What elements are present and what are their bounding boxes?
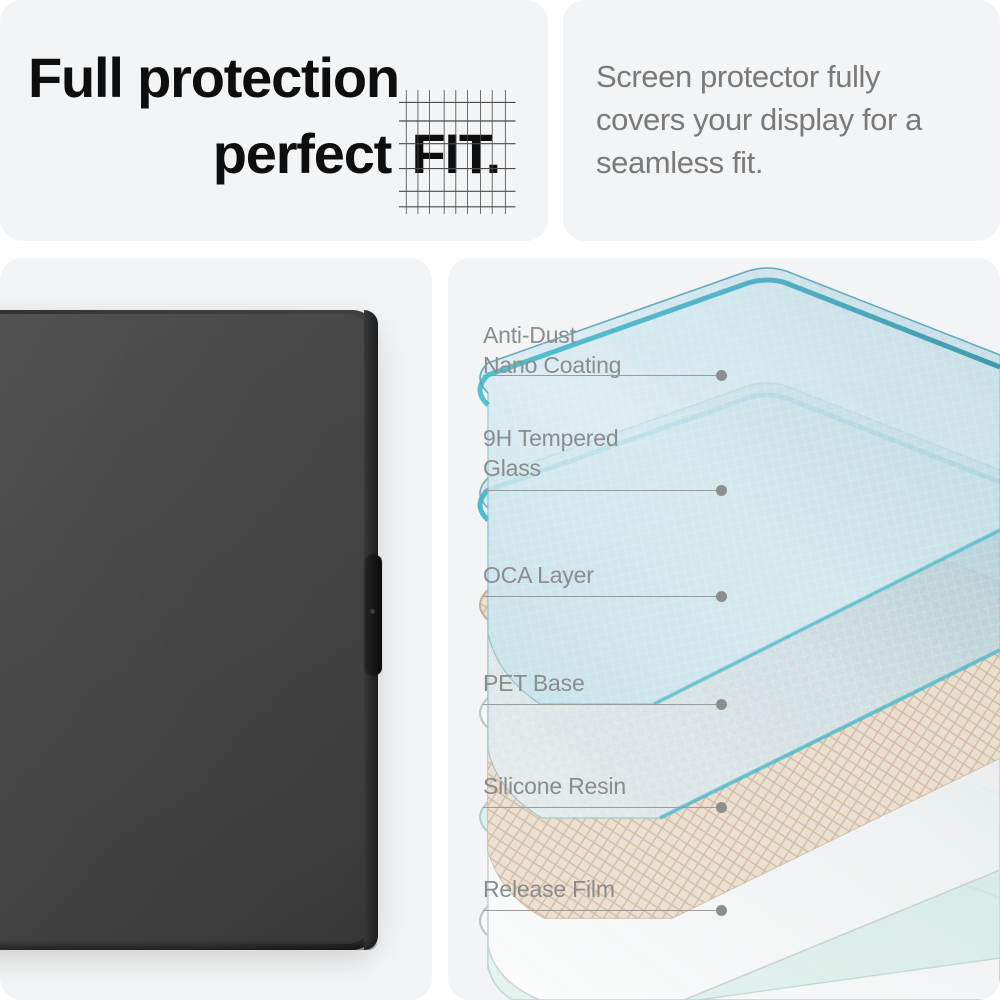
layer-label-silicone-resin: Silicone Resin — [483, 771, 626, 801]
leader-dot-9h-tempered-glass — [716, 485, 727, 496]
leader-dot-release-film — [716, 905, 727, 916]
leader-dot-pet-base — [716, 699, 727, 710]
screen-reflection — [0, 314, 370, 944]
camera-lens-icon — [370, 609, 375, 614]
caption-text: Screen protector fully covers your displ… — [596, 55, 976, 184]
layer-label-anti-dust-nano-coating: Anti-Dust Nano Coating — [483, 320, 621, 380]
headline-line-2: perfect FIT. — [28, 116, 528, 192]
leader-dot-oca-layer — [716, 591, 727, 602]
leader-line-pet-base — [483, 704, 723, 705]
leader-line-silicone-resin — [483, 807, 723, 808]
headline-line-2-prefix: perfect — [213, 122, 406, 185]
fit-accent: FIT. — [405, 116, 506, 192]
leader-dot-silicone-resin — [716, 802, 727, 813]
leader-dot-anti-dust-nano-coating — [716, 370, 727, 381]
infographic-page: Full protection perfect FIT. — [0, 0, 1000, 1000]
layer-label-release-film: Release Film — [483, 874, 615, 904]
fit-label: FIT. — [411, 122, 500, 185]
caption-panel: Screen protector fully covers your displ… — [563, 0, 1000, 241]
leader-line-anti-dust-nano-coating — [483, 375, 723, 376]
layer-label-9h-tempered-glass: 9H Tempered Glass — [483, 423, 618, 483]
layer-label-pet-base: PET Base — [483, 668, 585, 698]
tablet-screen — [0, 314, 370, 944]
tablet-device — [0, 310, 378, 950]
page-title: Full protection perfect FIT. — [28, 40, 528, 192]
leader-line-oca-layer — [483, 596, 723, 597]
layer-label-oca-layer: OCA Layer — [483, 560, 594, 590]
tablet-bottom-shadow — [0, 940, 378, 950]
device-panel — [0, 258, 432, 1000]
leader-line-9h-tempered-glass — [483, 490, 723, 491]
leader-line-release-film — [483, 910, 723, 911]
headline-panel: Full protection perfect FIT. — [0, 0, 548, 241]
layer-stack-panel: Anti-Dust Nano Coating 9H Tempered Glass… — [448, 258, 1000, 1000]
headline-line-1: Full protection — [28, 40, 528, 116]
rear-camera-bump — [366, 555, 382, 675]
